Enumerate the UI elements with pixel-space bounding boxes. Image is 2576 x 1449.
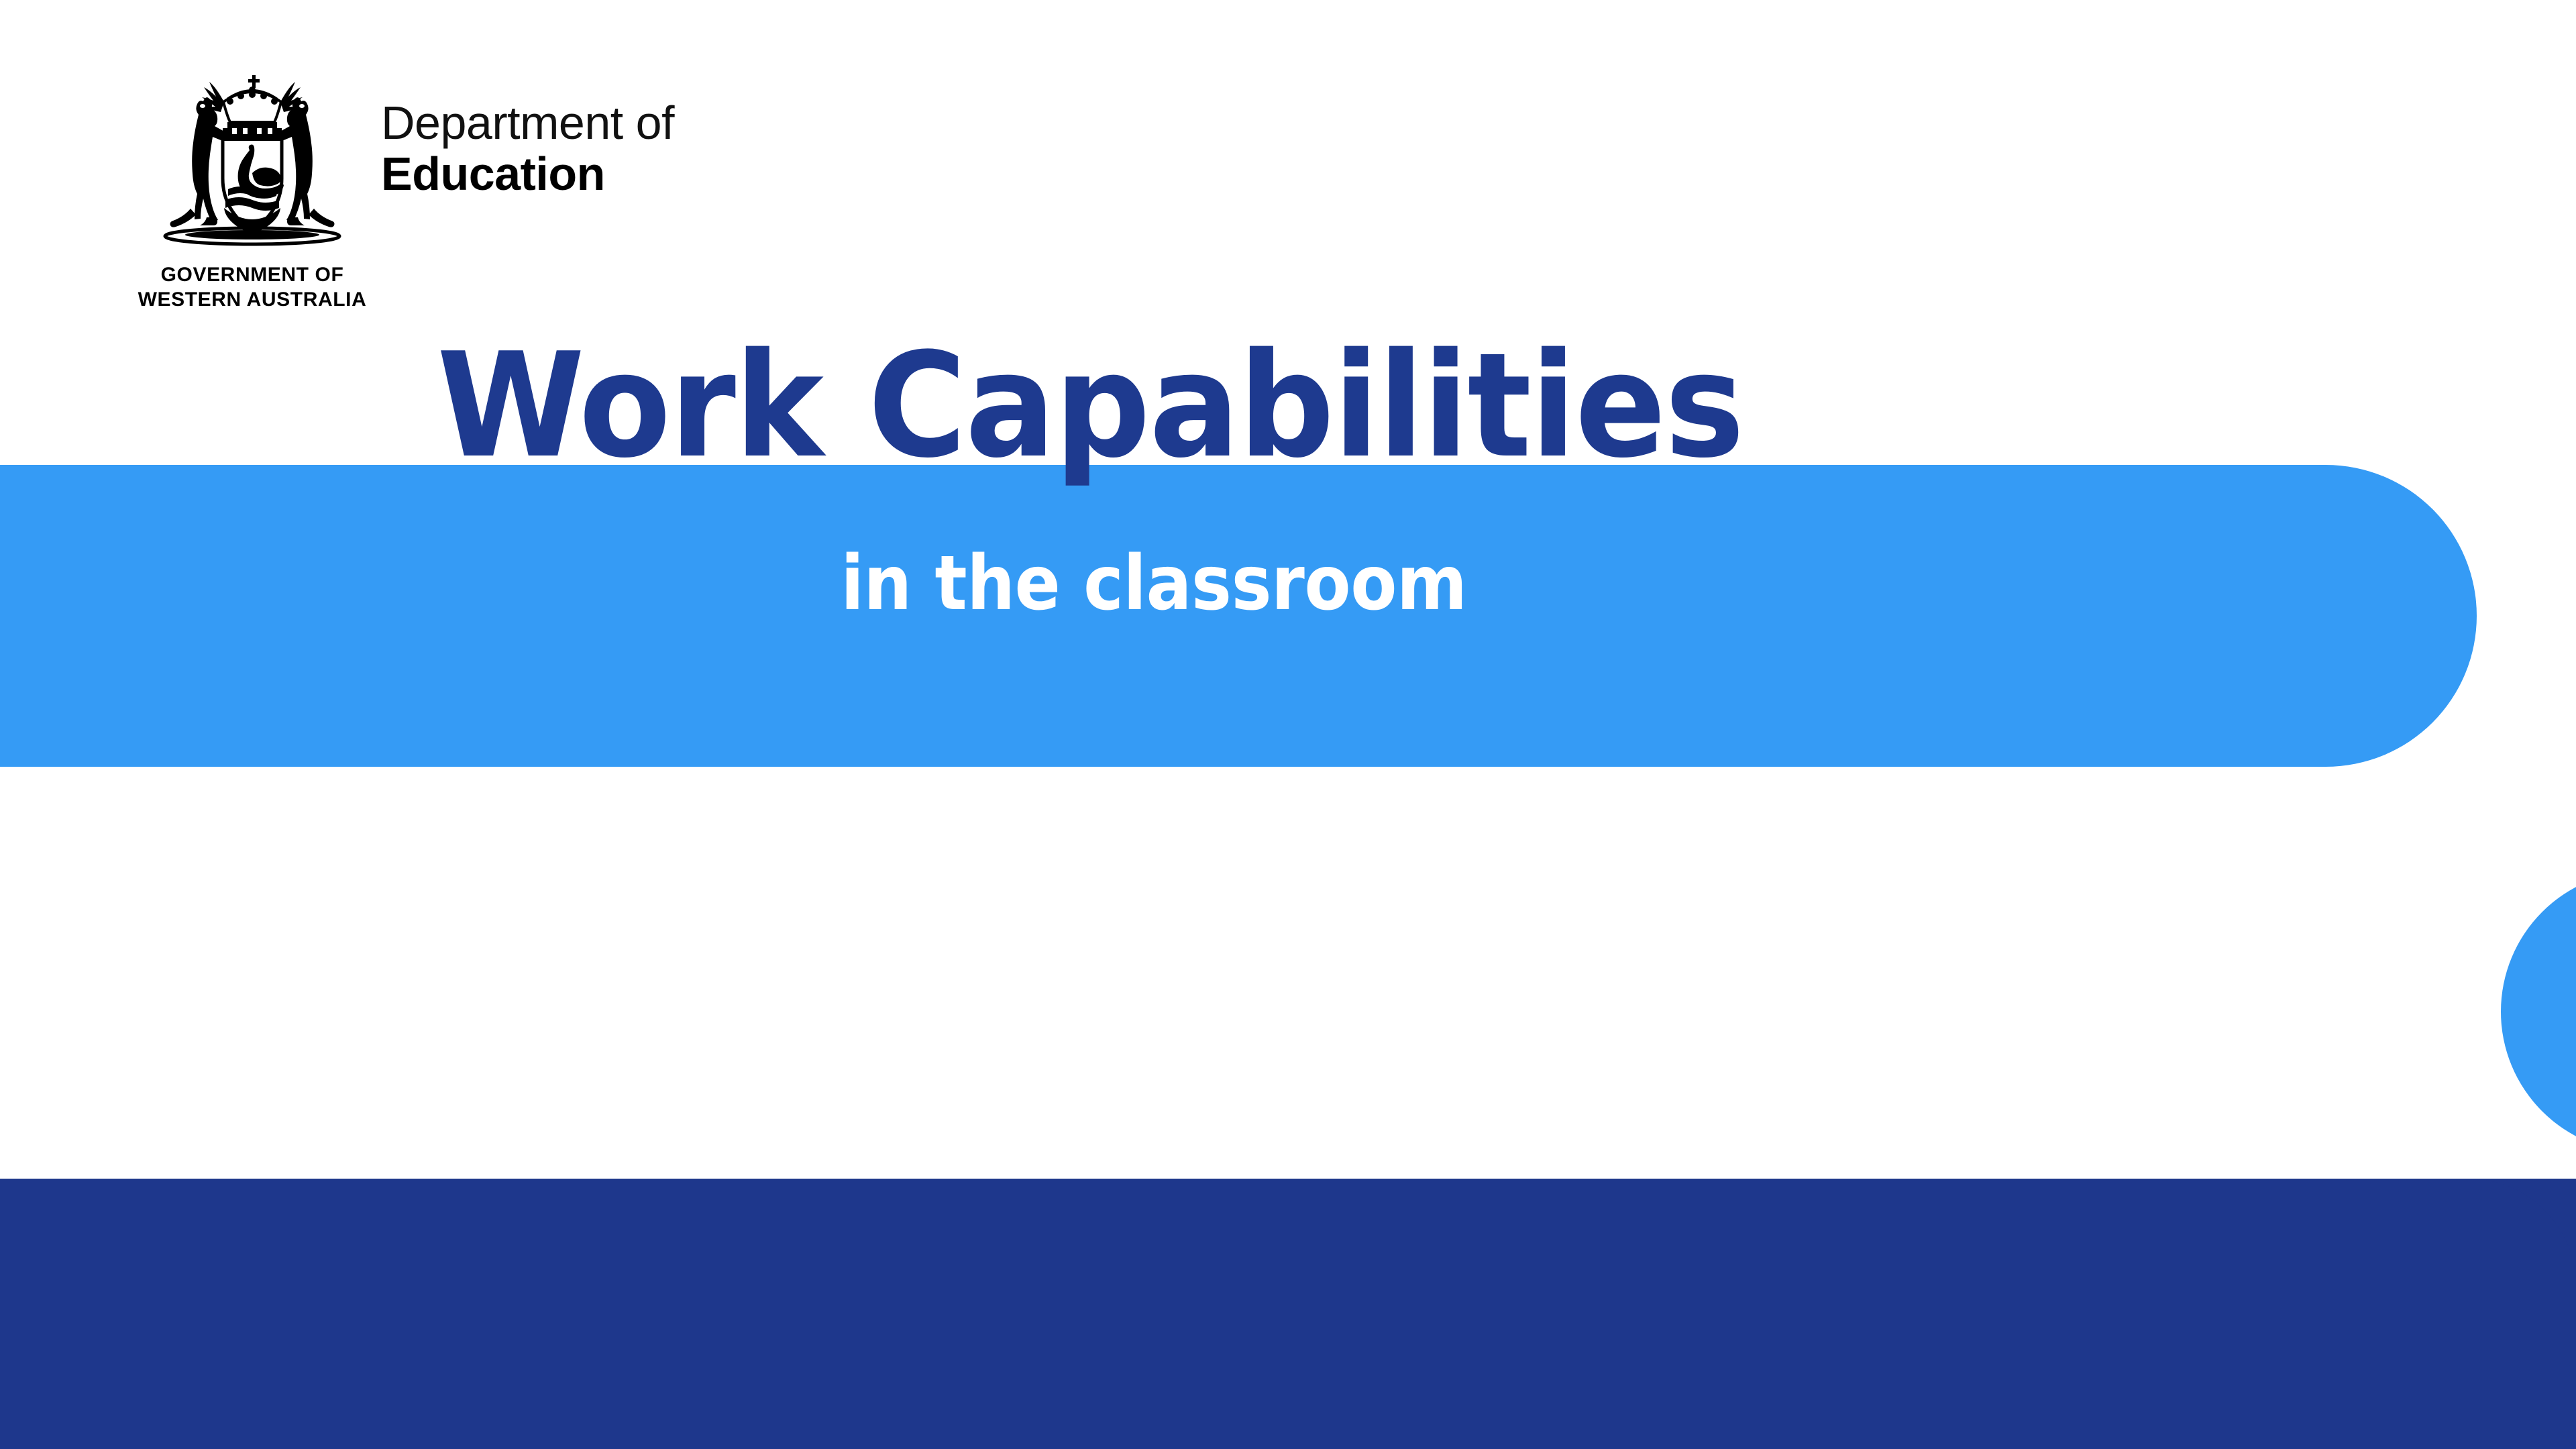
crest-caption-line1: GOVERNMENT OF	[138, 263, 367, 288]
slide-subtitle: in the classroom	[115, 546, 2192, 621]
crest-caption: GOVERNMENT OF WESTERN AUSTRALIA	[138, 263, 367, 312]
crest-lockup: GOVERNMENT OF WESTERN AUSTRALIA	[131, 64, 373, 312]
wa-education-logo: GOVERNMENT OF WESTERN AUSTRALIA Departme…	[131, 64, 674, 312]
slide-title: Work Capabilities	[76, 333, 2104, 478]
department-line1: Department of	[381, 98, 674, 148]
department-name: Department of Education	[381, 64, 674, 201]
department-line2: Education	[381, 148, 674, 200]
slide-canvas: GOVERNMENT OF WESTERN AUSTRALIA Departme…	[0, 0, 2576, 1449]
crest-caption-line2: WESTERN AUSTRALIA	[138, 288, 367, 313]
navy-bottom-band	[0, 1179, 2576, 1449]
wa-coat-of-arms-icon	[152, 64, 353, 259]
light-blue-circle-accent	[2501, 871, 2576, 1152]
